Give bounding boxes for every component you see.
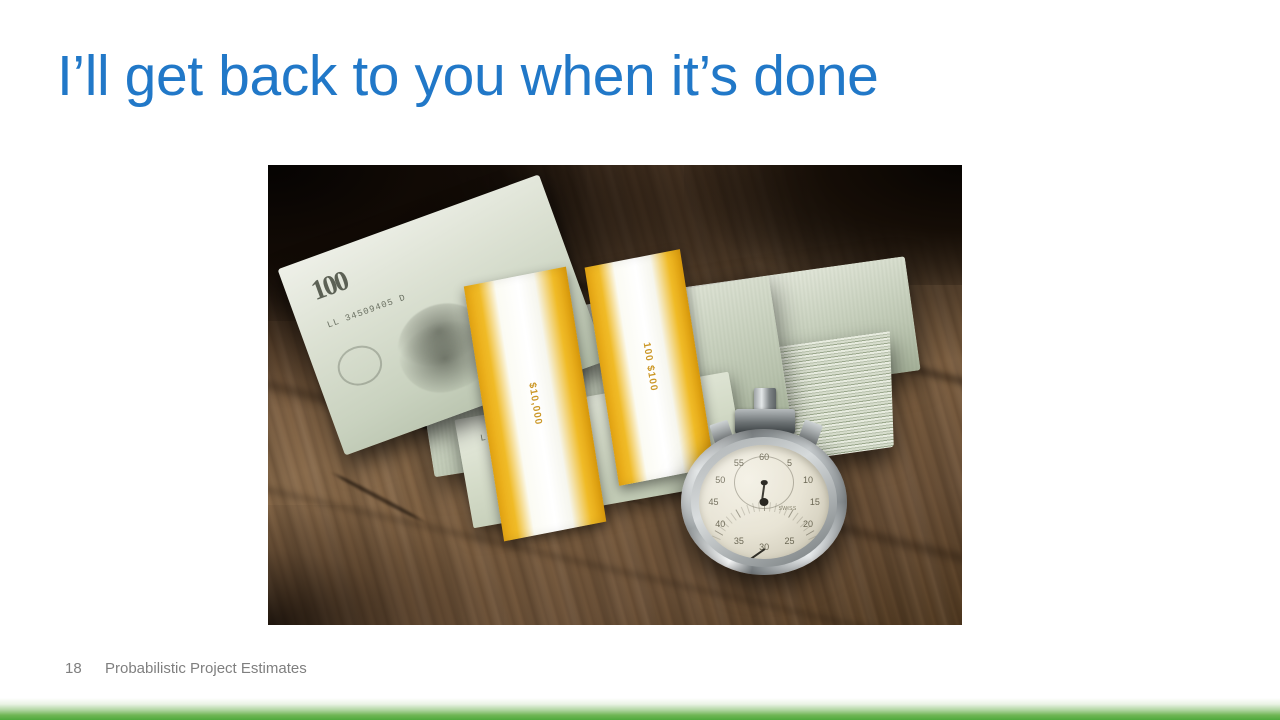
stopwatch-numeral: 15 [810, 497, 820, 507]
bill-denomination-numeral: 100 [307, 265, 352, 307]
deck-title: Probabilistic Project Estimates [105, 659, 307, 679]
currency-strap-label: $10,000 [526, 382, 544, 427]
slide: I’ll get back to you when it’s done 100 … [0, 0, 1280, 720]
stopwatch-case: 51015202530354045505560 SWISS [681, 429, 848, 576]
stopwatch-numeral: 50 [715, 475, 725, 485]
slide-footer: 18 Probabilistic Project Estimates [65, 659, 307, 679]
stopwatch-numeral: 10 [803, 475, 813, 485]
stopwatch-numeral: 20 [803, 519, 813, 529]
stopwatch-numeral: 25 [785, 536, 795, 546]
slide-number: 18 [65, 659, 87, 679]
stopwatch-numeral: 45 [709, 497, 719, 507]
money-stacks: 100 LL 35849915 E 100 100 LL 34509405 D … [268, 165, 962, 625]
stopwatch-numeral: 40 [715, 519, 725, 529]
stopwatch-pivot [760, 498, 769, 506]
stopwatch-brand-text: SWISS [779, 506, 797, 512]
stopwatch-dial: 51015202530354045505560 SWISS [699, 445, 829, 560]
stopwatch: 51015202530354045505560 SWISS [677, 404, 851, 579]
page-title: I’ll get back to you when it’s done [57, 44, 1177, 108]
bottom-accent-bar [0, 698, 1280, 720]
content-image: 100 LL 35849915 E 100 100 LL 34509405 D … [268, 165, 962, 625]
stopwatch-numeral: 35 [734, 536, 744, 546]
currency-strap-label: 100 $100 [640, 342, 659, 393]
treasury-seal [332, 339, 387, 391]
